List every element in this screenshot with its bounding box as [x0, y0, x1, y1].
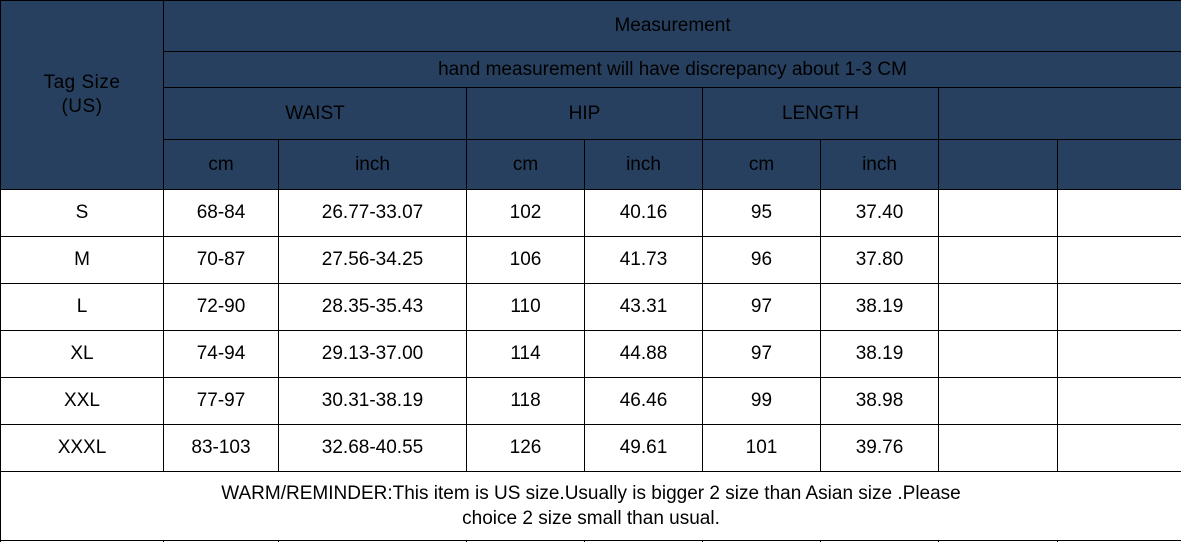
group-header-hip: HIP	[467, 88, 703, 140]
cell-length-cm: 96	[703, 237, 821, 284]
cell-length-inch: 39.76	[821, 425, 939, 472]
cell-size: XXXL	[1, 425, 164, 472]
cell-waist-cm: 83-103	[164, 425, 279, 472]
group-header-length: LENGTH	[703, 88, 939, 140]
warning-note: WARM/REMINDER:This item is US size.Usual…	[1, 472, 1181, 541]
cell-length-inch: 38.19	[821, 284, 939, 331]
unit-header-hip-cm: cm	[467, 140, 585, 190]
header-row-groups: WAIST HIP LENGTH	[1, 88, 1181, 140]
cell-waist-inch: 32.68-40.55	[279, 425, 467, 472]
cell-spare-2	[1058, 237, 1181, 284]
cell-waist-inch: 27.56-34.25	[279, 237, 467, 284]
tag-size-line1: Tag Size	[1, 71, 163, 95]
cell-waist-cm: 68-84	[164, 190, 279, 237]
cell-spare-1	[939, 378, 1058, 425]
unit-header-waist-cm: cm	[164, 140, 279, 190]
cell-length-cm: 97	[703, 284, 821, 331]
cell-waist-inch: 26.77-33.07	[279, 190, 467, 237]
table-row: XL 74-94 29.13-37.00 114 44.88 97 38.19	[1, 331, 1181, 378]
tag-size-header: Tag Size (US)	[1, 1, 164, 190]
cell-size: XL	[1, 331, 164, 378]
cell-size: S	[1, 190, 164, 237]
cell-hip-cm: 118	[467, 378, 585, 425]
cell-spare-1	[939, 425, 1058, 472]
unit-header-hip-inch: inch	[585, 140, 703, 190]
unit-header-spare-1	[939, 140, 1058, 190]
cell-hip-inch: 40.16	[585, 190, 703, 237]
measurement-title: Measurement	[164, 1, 1181, 52]
header-row-measurement: Tag Size (US) Measurement	[1, 1, 1181, 52]
tag-size-line2: (US)	[1, 95, 163, 119]
cell-waist-inch: 28.35-35.43	[279, 284, 467, 331]
cell-size: L	[1, 284, 164, 331]
cell-hip-cm: 114	[467, 331, 585, 378]
cell-hip-inch: 49.61	[585, 425, 703, 472]
cell-waist-cm: 72-90	[164, 284, 279, 331]
cell-spare-1	[939, 237, 1058, 284]
cell-spare-2	[1058, 190, 1181, 237]
cell-waist-inch: 30.31-38.19	[279, 378, 467, 425]
cell-spare-2	[1058, 284, 1181, 331]
header-row-units: cm inch cm inch cm inch	[1, 140, 1181, 190]
cell-hip-inch: 43.31	[585, 284, 703, 331]
cell-spare-2	[1058, 378, 1181, 425]
warning-row: WARM/REMINDER:This item is US size.Usual…	[1, 472, 1181, 541]
measurement-note: hand measurement will have discrepancy a…	[164, 52, 1181, 88]
cell-length-inch: 38.98	[821, 378, 939, 425]
cell-hip-cm: 102	[467, 190, 585, 237]
cell-hip-inch: 46.46	[585, 378, 703, 425]
table-row: M 70-87 27.56-34.25 106 41.73 96 37.80	[1, 237, 1181, 284]
cell-size: M	[1, 237, 164, 284]
cell-length-cm: 99	[703, 378, 821, 425]
group-header-spare	[939, 88, 1181, 140]
unit-header-waist-inch: inch	[279, 140, 467, 190]
cell-waist-cm: 77-97	[164, 378, 279, 425]
size-chart-table: Tag Size (US) Measurement hand measureme…	[0, 0, 1181, 542]
cell-hip-cm: 110	[467, 284, 585, 331]
cell-spare-1	[939, 190, 1058, 237]
unit-header-length-inch: inch	[821, 140, 939, 190]
cell-length-inch: 37.80	[821, 237, 939, 284]
warning-line-1: WARM/REMINDER:This item is US size.Usual…	[1, 481, 1181, 506]
cell-spare-1	[939, 284, 1058, 331]
table-row: XXXL 83-103 32.68-40.55 126 49.61 101 39…	[1, 425, 1181, 472]
table-row: XXL 77-97 30.31-38.19 118 46.46 99 38.98	[1, 378, 1181, 425]
cell-length-cm: 95	[703, 190, 821, 237]
cell-waist-cm: 74-94	[164, 331, 279, 378]
cell-size: XXL	[1, 378, 164, 425]
cell-spare-1	[939, 331, 1058, 378]
cell-length-cm: 97	[703, 331, 821, 378]
header-row-note: hand measurement will have discrepancy a…	[1, 52, 1181, 88]
size-chart-image: Tag Size (US) Measurement hand measureme…	[0, 0, 1181, 542]
cell-length-cm: 101	[703, 425, 821, 472]
table-row: S 68-84 26.77-33.07 102 40.16 95 37.40	[1, 190, 1181, 237]
cell-waist-inch: 29.13-37.00	[279, 331, 467, 378]
cell-hip-inch: 41.73	[585, 237, 703, 284]
group-header-waist: WAIST	[164, 88, 467, 140]
cell-spare-2	[1058, 425, 1181, 472]
cell-length-inch: 37.40	[821, 190, 939, 237]
cell-hip-cm: 106	[467, 237, 585, 284]
cell-hip-cm: 126	[467, 425, 585, 472]
table-row: L 72-90 28.35-35.43 110 43.31 97 38.19	[1, 284, 1181, 331]
unit-header-length-cm: cm	[703, 140, 821, 190]
cell-waist-cm: 70-87	[164, 237, 279, 284]
warning-line-2: choice 2 size small than usual.	[1, 506, 1181, 531]
cell-hip-inch: 44.88	[585, 331, 703, 378]
cell-spare-2	[1058, 331, 1181, 378]
cell-length-inch: 38.19	[821, 331, 939, 378]
unit-header-spare-2	[1058, 140, 1181, 190]
